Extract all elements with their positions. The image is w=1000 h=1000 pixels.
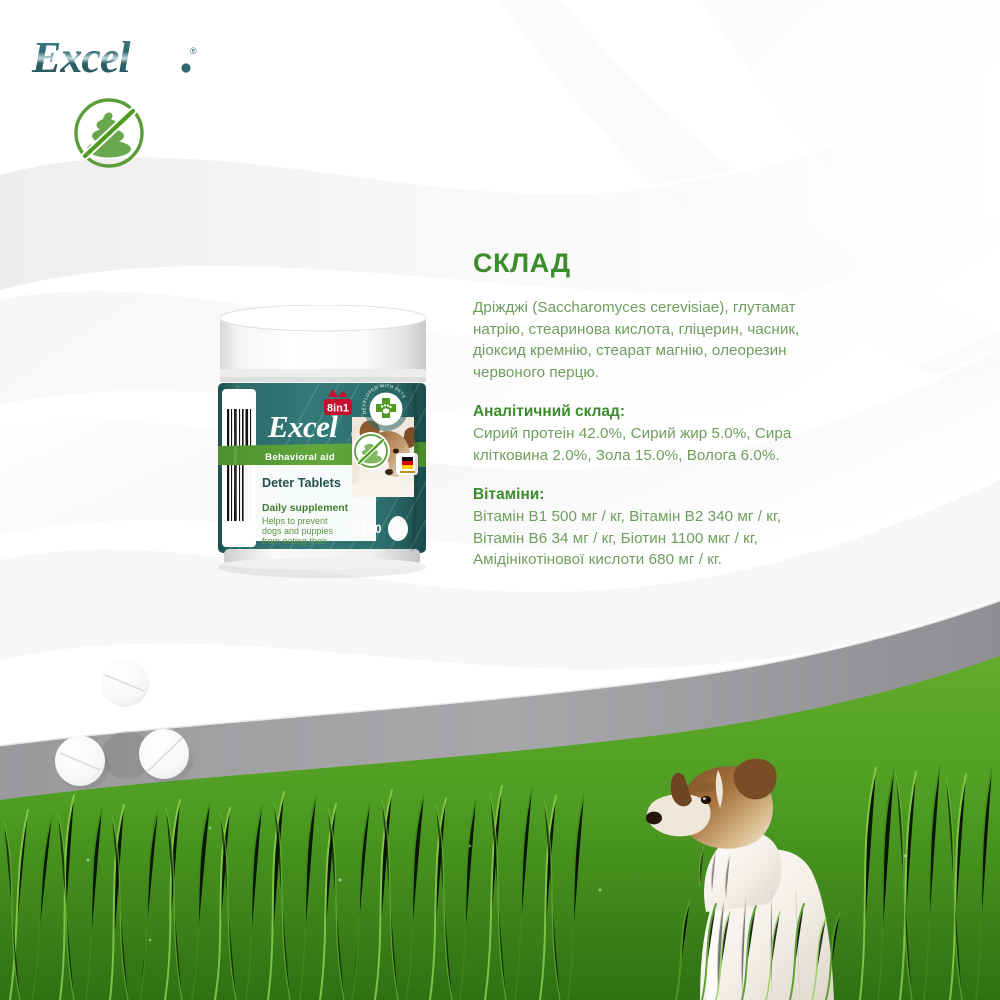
excel-logo-trademark: ® <box>190 46 197 56</box>
tablet-group <box>55 655 225 795</box>
bottle-no-faeces-icon <box>352 432 390 470</box>
composition-text-block: СКЛАД Дріжджі (Saccharomyces cerevisiae)… <box>473 250 813 571</box>
bottle-variant: Deter Tablets <box>262 476 341 490</box>
behavioral-aid-text: Behavioral aid <box>265 452 335 463</box>
brand-block: Excel ® <box>30 32 202 82</box>
infographic-canvas: Excel ® <box>0 0 1000 1000</box>
vitamins-section: Вітаміни: Вітамін B1 500 мг / кг, Вітамі… <box>473 484 813 571</box>
bottle-product-name: Excel <box>267 409 338 444</box>
page-title: СКЛАД <box>473 250 813 277</box>
svg-text:from eating their: from eating their <box>262 536 327 546</box>
product-bottle: 4048422184126 8in1 Excel ® Behavioral ai… <box>200 305 445 590</box>
vitamins-label: Вітаміни: <box>473 484 813 506</box>
bottle-count-text: X100 <box>353 523 382 536</box>
daily-supplement-label: Daily supplement <box>262 503 349 514</box>
ingredients-paragraph: Дріжджі (Saccharomyces cerevisiae), глут… <box>473 297 813 383</box>
excel-logo: Excel ® <box>30 32 202 82</box>
analytical-section: Аналітичний склад: Сирий протеін 42.0%, … <box>473 401 813 466</box>
analytical-label: Аналітичний склад: <box>473 401 813 423</box>
analytical-body: Сирий протеін 42.0%, Сирий жир 5.0%, Сир… <box>473 425 791 464</box>
svg-text:Helps to prevent: Helps to prevent <box>262 516 328 526</box>
svg-text:dogs and puppies: dogs and puppies <box>262 526 334 536</box>
tablet <box>139 729 193 783</box>
german-flag-badge <box>396 453 418 475</box>
no-faeces-icon <box>70 94 148 172</box>
tablet <box>55 736 109 789</box>
svg-text:Excel: Excel <box>31 33 131 82</box>
vitamins-body: Вітамін B1 500 мг / кг, Вітамін B2 340 м… <box>473 508 781 568</box>
